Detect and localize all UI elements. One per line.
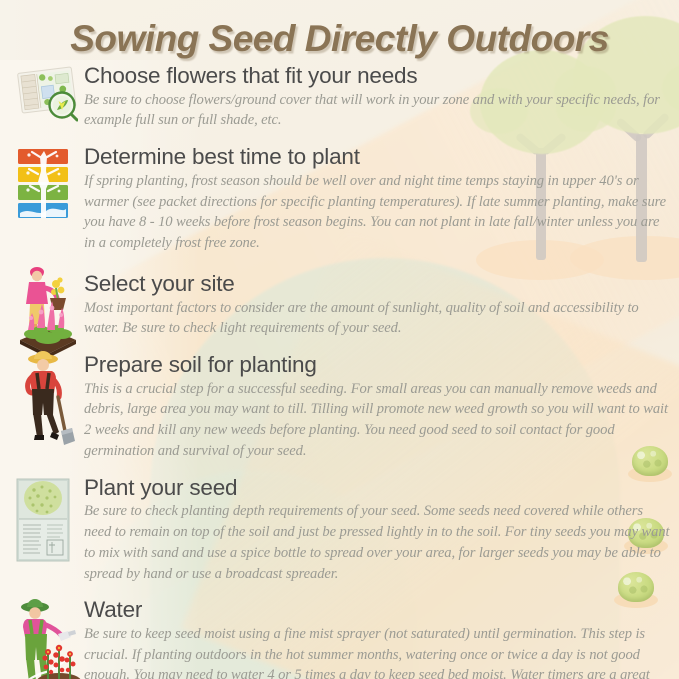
step-item: Choose flowers that fit your needs Be su… [0, 64, 679, 131]
step-body: If spring planting, frost season should … [84, 171, 673, 254]
gardener-with-shovel-icon [18, 347, 78, 451]
step-item: Determine best time to plant If spring p… [0, 145, 679, 254]
step-body: Be sure to keep seed moist using a fine … [84, 624, 673, 679]
steps-list: Choose flowers that fit your needs Be su… [0, 64, 679, 679]
step-body: This is a crucial step for a successful … [84, 379, 673, 462]
page-title: Sowing Seed Directly Outdoors [0, 18, 679, 60]
step-heading: Prepare soil for planting [84, 353, 673, 378]
step-heading: Determine best time to plant [84, 145, 673, 170]
gardener-watering-icon [12, 594, 84, 679]
step-item: Plant your seed Be sure to check plantin… [0, 476, 679, 585]
step-heading: Choose flowers that fit your needs [84, 64, 673, 89]
step-heading: Water [84, 598, 673, 623]
infographic-poster: Sowing Seed Directly Outdoors [0, 0, 679, 679]
step-heading: Select your site [84, 272, 673, 297]
step-item: Water Be sure to keep seed moist using a… [0, 598, 679, 679]
step-item: Select your site Most important factors … [0, 272, 679, 339]
step-item: Prepare soil for planting This is a cruc… [0, 353, 679, 462]
step-heading: Plant your seed [84, 476, 673, 501]
step-body: Most important factors to consider are t… [84, 298, 673, 339]
four-seasons-chart-icon [16, 149, 72, 223]
step-body: Be sure to check planting depth requirem… [84, 501, 673, 584]
seed-packet-icon [16, 478, 70, 562]
step-body: Be sure to choose flowers/ground cover t… [84, 90, 673, 131]
garden-plan-map-icon [16, 66, 78, 126]
